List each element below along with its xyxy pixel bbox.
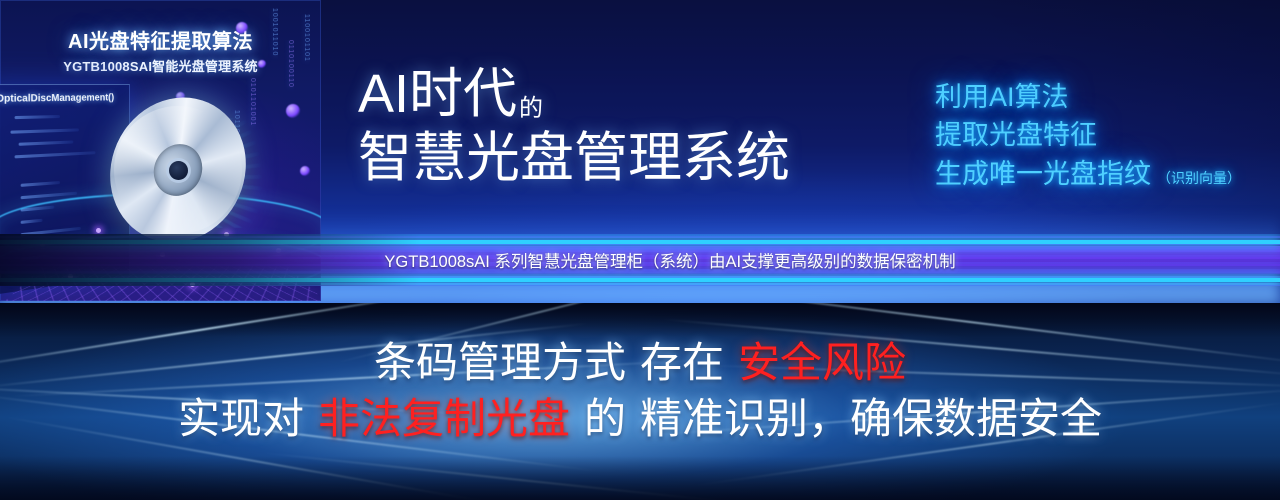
glow-particle [300, 166, 310, 176]
bottom-headline-block: 条码管理方式存在安全风险 实现对非法复制光盘的精准识别，确保数据安全 [0, 335, 1280, 448]
bottom-line2-highlight: 非法复制光盘 [318, 395, 570, 442]
optical-disc-icon [108, 100, 248, 240]
main-title-line-1: AI时代的 [358, 66, 878, 123]
glow-particle [258, 60, 266, 68]
bottom-line1-part-a: 条码管理方式 [374, 339, 626, 386]
bottom-headline-line-2: 实现对非法复制光盘的精准识别，确保数据安全 [0, 391, 1280, 447]
mesh-node [96, 228, 101, 233]
promo-banner: AI光盘特征提取算法 YGTB1008SAI智能光盘管理系统 OpticalDi… [0, 0, 1280, 500]
glow-particle [236, 22, 248, 34]
main-title-primary: AI时代 [358, 64, 517, 124]
main-title-block: AI时代的 智慧光盘管理系统 [358, 66, 878, 187]
band-subtitle-text: YGTB1008sAI 系列智慧光盘管理柜（系统）由AI支撑更高级别的数据保密机… [0, 248, 1280, 272]
feature-line-1: 利用AI算法 [935, 78, 1241, 116]
binary-stream: 1001011010 [268, 8, 278, 158]
binary-stream: 1100101101 [300, 14, 310, 174]
code-line [21, 181, 60, 187]
main-title-line-2: 智慧光盘管理系统 [358, 129, 878, 187]
bottom-line2-part-b: 的 [584, 395, 626, 442]
code-line [19, 140, 74, 145]
bottom-line1-part-b: 存在 [640, 339, 724, 386]
code-method-label: OpticalDiscManagement() [0, 93, 114, 105]
bottom-line2-part-c: 精准识别，确保数据安全 [640, 395, 1102, 442]
code-line [15, 151, 96, 158]
bottom-line1-highlight: 安全风险 [738, 339, 906, 386]
main-title-suffix: 的 [519, 95, 543, 122]
feature-highlight-list: 利用AI算法 提取光盘特征 生成唯一光盘指纹（识别向量） [935, 78, 1241, 193]
feature-line-2: 提取光盘特征 [935, 116, 1241, 154]
bottom-headline-line-1: 条码管理方式存在安全风险 [0, 335, 1280, 391]
binary-stream: 0110100110 [284, 40, 294, 210]
feature-line-3: 生成唯一光盘指纹（识别向量） [935, 155, 1241, 193]
bottom-bottom-shade [0, 456, 1280, 500]
product-subtitle-band: YGTB1008sAI 系列智慧光盘管理柜（系统）由AI支撑更高级别的数据保密机… [0, 234, 1280, 286]
glow-particle [286, 104, 300, 118]
feature-line-3-text: 生成唯一光盘指纹 [935, 159, 1151, 189]
bottom-line2-part-a: 实现对 [178, 395, 304, 442]
code-line [10, 128, 78, 133]
feature-line-3-note: （识别向量） [1157, 170, 1241, 186]
code-line [15, 115, 60, 119]
disc-center-hole [169, 161, 188, 180]
